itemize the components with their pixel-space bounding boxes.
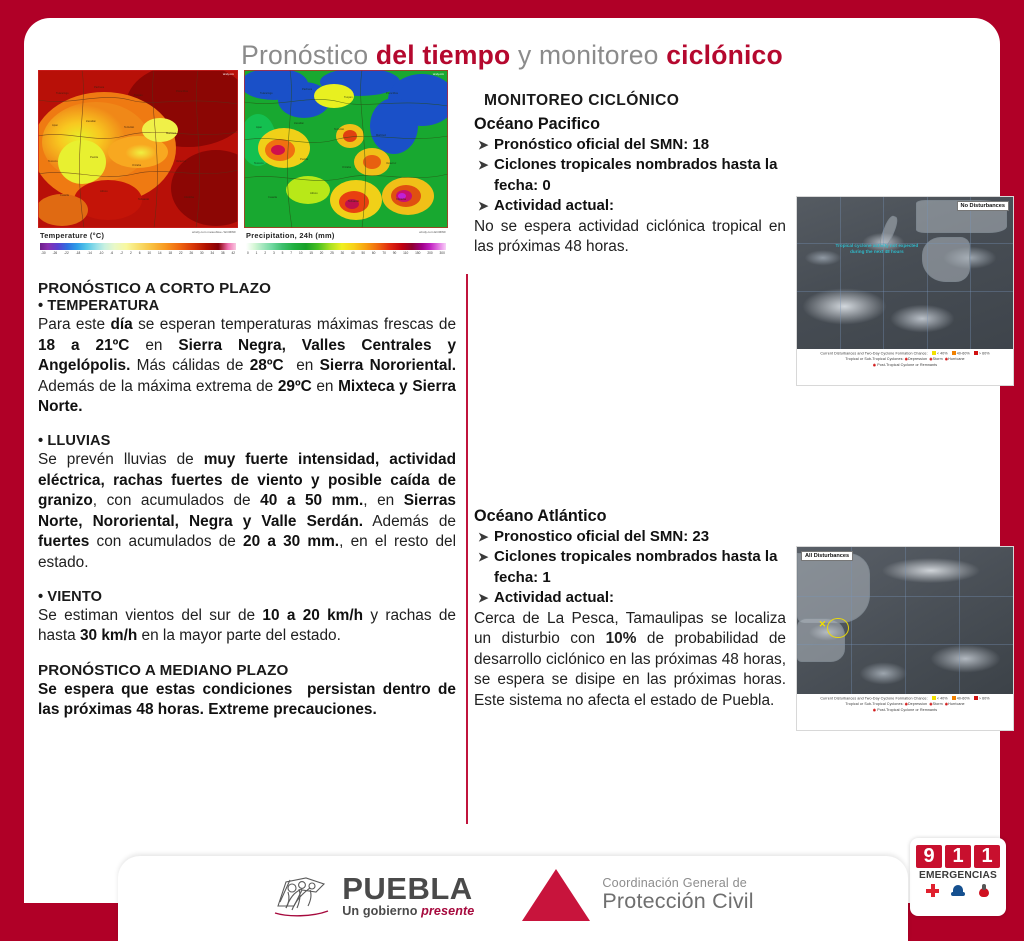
t-tick: 26 [189,251,193,255]
svg-text:Atlixco: Atlixco [310,191,318,195]
pacific-bullet-1: Pronóstico oficial del SMN: 18 [494,135,786,155]
grid-line [905,547,906,694]
svg-text:windy.com: windy.com [433,73,444,76]
precipitation-colorbar-gradient [246,243,446,250]
grid-line [883,197,884,349]
t-tick: -2 [120,251,123,255]
puebla-emblem-icon [272,872,334,918]
pacific-ocean-name: Océano Pacifico [474,115,786,134]
p-tick: 5 [282,251,284,255]
proteccion-civil-logo: Coordinación General de Protección Civil [522,869,753,921]
rain-text: Se prevén lluvias de muy fuerte intensid… [38,450,456,574]
grid-line [797,596,1013,597]
atlantic-bullet-1: Pronostico oficial del SMN: 23 [494,527,786,547]
p-tick: 2 [264,251,266,255]
white-card: Pronóstico del tiempo y monitoreo ciclón… [24,18,1000,903]
puebla-government-logo: PUEBLA Un gobierno presente [272,872,474,918]
legend-type-storm: Storm [933,357,943,361]
svg-text:Tulancingo: Tulancingo [56,91,69,95]
svg-text:Orizaba: Orizaba [342,165,352,169]
t-tick: 42 [231,251,235,255]
svg-text:Tehuacán: Tehuacán [138,197,150,201]
puebla-name: PUEBLA [342,873,474,904]
landmass-usa [797,553,870,624]
precipitation-map-panel: TulancingoPachuca TuxpanPoza Rica ApanZa… [244,70,448,262]
svg-text:Apan: Apan [256,125,263,129]
title-part-1: Pronóstico [241,40,376,70]
p-tick: 150 [415,251,420,255]
proteccion-civil-wordmark: Coordinación General de Protección Civil [602,877,753,914]
atlantic-satellite-image: All Disturbances ✕ [797,547,1013,694]
list-item: ➤ Ciclones tropicales nombrados hasta la… [474,547,786,588]
p-tick: 110 [403,251,408,255]
precipitation-colorbar-label: Precipitation, 24h (mm) [246,231,446,241]
atlantic-satellite-panel: All Disturbances ✕ Current Disturbances … [796,546,1014,731]
swatch-mid-chance-icon [952,696,956,700]
t-tick: 14 [158,251,162,255]
infographic-page: Pronóstico del tiempo y monitoreo ciclón… [0,0,1024,941]
svg-text:Cuautla: Cuautla [60,193,69,197]
swatch-low-chance-icon [932,696,936,700]
pc-line-1: Coordinación General de [602,877,753,891]
atlantic-activity-text: Cerca de La Pesca, Tamaulipas se localiz… [474,609,786,712]
atlantic-satellite-legend: Current Disturbances and Two-Day Cyclone… [797,694,1013,731]
short-term-forecast-column: PRONÓSTICO A CORTO PLAZO • TEMPERATURA P… [38,280,456,721]
emergency-911-badge: 9 1 1 EMERGENCIAS [910,838,1006,916]
legend-type-storm: Storm [933,702,943,706]
legend-cyclone-label: Tropical or Sub-Tropical Cyclones: [845,357,903,361]
pacific-status-tag: No Disturbances [957,201,1009,211]
digit-1-b: 1 [974,845,1000,868]
swatch-low-chance-icon [932,351,936,355]
legend-chance-label: Current Disturbances and Two-Day Cyclone… [820,352,927,356]
precipitation-map-canvas: TulancingoPachuca TuxpanPoza Rica ApanZa… [244,70,448,228]
title-part-2: y monitoreo [510,40,666,70]
grid-line [927,197,928,349]
post-tropical-symbol-icon: ◉ [873,363,876,367]
legend-chance-low: < 40% [937,697,948,701]
svg-text:Córdoba: Córdoba [396,197,407,201]
post-tropical-symbol-icon: ◉ [873,708,876,712]
cyclone-monitoring-column: MONITOREO CICLÓNICO Océano Pacifico ➤ Pr… [474,92,786,258]
arrow-bullet-icon: ➤ [474,588,494,608]
p-tick: 20 [320,251,324,255]
p-tick: 25 [330,251,334,255]
grid-line [797,644,1013,645]
puebla-wordmark: PUEBLA Un gobierno presente [342,873,474,918]
temperature-colorbar: Temperature (°C) windy.com meteoblue / E… [38,228,238,262]
monitoring-title: MONITOREO CICLÓNICO [474,92,786,110]
legend-post-tropical: Post-Tropical Cyclone or Remnants [877,708,937,712]
arrow-bullet-icon: ➤ [474,135,494,155]
svg-text:Martínez: Martínez [376,133,387,137]
title-bold-1: del tiempo [376,40,511,70]
arrow-bullet-icon: ➤ [474,196,494,216]
svg-text:Apan: Apan [52,123,59,127]
p-tick: 3 [273,251,275,255]
rain-heading: • LLUVIAS [38,433,456,449]
pacific-bullet-3: Actividad actual: [494,196,786,216]
p-tick: 15 [309,251,313,255]
triangle-icon [522,869,590,921]
grid-line [797,291,1013,292]
svg-text:Poza Rica: Poza Rica [386,91,398,95]
legend-chance-mid: 40-60% [957,352,970,356]
grid-line [851,547,852,694]
legend-line-3: ◉ Post-Tropical Cyclone or Remnants [800,708,1010,714]
legend-type-depression: Depression [908,702,927,706]
t-tick: 2 [130,251,132,255]
medium-term-text: Se espera que estas condiciones persista… [38,680,456,721]
precipitation-credit: windy.com ECMWF [419,230,446,234]
p-tick: 7 [290,251,292,255]
footer-bar: PUEBLA Un gobierno presente Coordinación… [118,856,908,941]
p-tick: 70 [382,251,386,255]
legend-type-hurricane: Hurricane [948,357,964,361]
p-tick: 200 [427,251,432,255]
svg-text:Poza Rica: Poza Rica [176,89,188,93]
legend-chance-label: Current Disturbances and Two-Day Cyclone… [820,697,927,701]
p-tick: 50 [361,251,365,255]
list-item: ➤ Pronostico oficial del SMN: 23 [474,527,786,547]
list-item: ➤ Pronóstico oficial del SMN: 18 [474,135,786,155]
atlantic-status-tag: All Disturbances [801,551,853,561]
page-title: Pronóstico del tiempo y monitoreo ciclón… [24,40,1000,71]
legend-type-depression: Depression [908,357,927,361]
tagline-plain: Un gobierno [342,904,421,918]
list-item: ➤ Ciclones tropicales nombrados hasta la… [474,155,786,196]
svg-text:Texcoco: Texcoco [48,159,58,163]
legend-line-3: ◉ Post-Tropical Cyclone or Remnants [800,363,1010,369]
legend-chance-low: < 40% [937,352,948,356]
title-bold-2: ciclónico [666,40,783,70]
svg-text:Tuxpan: Tuxpan [344,95,353,99]
svg-text:Tulancingo: Tulancingo [260,91,273,95]
digit-1-a: 1 [945,845,971,868]
t-tick: -30 [41,251,46,255]
legend-type-hurricane: Hurricane [948,702,964,706]
t-tick: -14 [87,251,92,255]
arrow-bullet-icon: ➤ [474,547,494,567]
temperature-heading: • TEMPERATURA [38,298,456,314]
temperature-colorbar-gradient [40,243,236,250]
p-tick: 1 [256,251,258,255]
legend-post-tropical: Post-Tropical Cyclone or Remnants [877,363,937,367]
puebla-tagline: Un gobierno presente [342,905,474,918]
footer-logos: PUEBLA Un gobierno presente Coordinación… [118,856,908,928]
svg-text:Teziutlán: Teziutlán [124,125,135,129]
svg-text:Tehuacán: Tehuacán [348,199,360,203]
precipitation-colorbar-ticks: 0 1 2 3 5 7 10 15 20 25 30 40 50 60 70 9… [246,251,446,255]
temperature-map-canvas: TulancingoPachuca TuxpanPoza Rica ApanZa… [38,70,238,228]
disturbance-marker-icon: ✕ [819,619,827,630]
svg-text:Teziutlán: Teziutlán [334,127,345,131]
landmass-mexico [922,237,970,283]
svg-text:Puebla: Puebla [300,157,309,161]
medium-term-heading: PRONÓSTICO A MEDIANO PLAZO [38,662,456,679]
svg-text:windy.com: windy.com [223,73,234,76]
firefighter-icon [978,884,990,897]
wind-text: Se estiman vientos del sur de 10 a 20 km… [38,606,456,647]
temperature-text: Para este día se esperan temperaturas má… [38,315,456,418]
t-tick: 10 [147,251,151,255]
temperature-map-image: TulancingoPachuca TuxpanPoza Rica ApanZa… [38,70,238,228]
pacific-satellite-panel: No Disturbances Tropical cyclone activit… [796,196,1014,386]
t-tick: -18 [76,251,81,255]
svg-text:Pachuca: Pachuca [302,87,313,91]
atlantic-bullet-2: Ciclones tropicales nombrados hasta la f… [494,547,786,588]
svg-text:Puebla: Puebla [90,155,99,159]
svg-text:Zacatlán: Zacatlán [86,119,97,123]
svg-text:Orizaba: Orizaba [132,163,142,167]
pacific-activity-text: No se espera actividad ciclónica tropica… [474,217,786,258]
wind-heading: • VIENTO [38,589,456,605]
p-tick: 10 [299,251,303,255]
svg-text:Veracruz: Veracruz [386,161,397,165]
svg-text:Pachuca: Pachuca [94,85,105,89]
t-tick: 18 [168,251,172,255]
temperature-credit: windy.com meteoblue / ECMWF [192,230,236,234]
911-digits: 9 1 1 [916,845,1000,868]
precipitation-colorbar: Precipitation, 24h (mm) windy.com ECMWF … [244,228,448,262]
list-item: ➤ Actividad actual: [474,588,786,608]
list-item: ➤ Actividad actual: [474,196,786,216]
temperature-colorbar-ticks: -30 -26 -22 -18 -14 -10 -6 -2 2 6 10 14 … [40,251,236,255]
atlantic-ocean-name: Océano Atlántico [474,507,786,526]
atlantic-bullet-3: Actividad actual: [494,588,786,608]
swatch-high-chance-icon [974,696,978,700]
grid-line [970,197,971,349]
precipitation-map-image: TulancingoPachuca TuxpanPoza Rica ApanZa… [244,70,448,228]
t-tick: 38 [221,251,225,255]
p-tick: 60 [372,251,376,255]
p-tick: 300 [440,251,445,255]
svg-text:Martínez: Martínez [166,131,177,135]
pacific-overlay-note: Tropical cyclone activity not expected d… [827,243,926,255]
tagline-accent: presente [421,904,474,918]
svg-text:Texcoco: Texcoco [254,161,264,165]
t-tick: 34 [210,251,214,255]
column-divider [466,274,468,824]
p-tick: 0 [247,251,249,255]
t-tick: -26 [53,251,58,255]
emergencias-label: EMERGENCIAS [916,870,1000,881]
p-tick: 30 [341,251,345,255]
t-tick: -10 [99,251,104,255]
legend-chance-high: > 60% [979,697,990,701]
pacific-satellite-legend: Current Disturbances and Two-Day Cyclone… [797,349,1013,386]
temperature-map-panel: TulancingoPachuca TuxpanPoza Rica ApanZa… [38,70,238,262]
pacific-satellite-image: No Disturbances Tropical cyclone activit… [797,197,1013,349]
grid-line [840,197,841,349]
t-tick: 22 [179,251,183,255]
svg-text:Tuxpan: Tuxpan [134,93,143,97]
svg-text:Veracruz: Veracruz [176,159,187,163]
svg-text:Zacatlán: Zacatlán [294,121,305,125]
t-tick: 30 [200,251,204,255]
legend-cyclone-label: Tropical or Sub-Tropical Cyclones: [845,702,903,706]
pc-line-2: Protección Civil [602,890,753,913]
swatch-high-chance-icon [974,351,978,355]
arrow-bullet-icon: ➤ [474,527,494,547]
svg-text:Atlixco: Atlixco [100,189,108,193]
p-tick: 90 [393,251,397,255]
grid-line [959,547,960,694]
police-hat-icon [951,885,965,897]
svg-text:Córdoba: Córdoba [184,195,195,199]
svg-text:Cuautla: Cuautla [268,195,277,199]
disturbance-hatch-icon [827,618,849,639]
digit-9: 9 [916,845,942,868]
atlantic-monitoring-block: Océano Atlántico ➤ Pronostico oficial de… [474,507,786,712]
t-tick: 6 [139,251,141,255]
pacific-bullet-2: Ciclones tropicales nombrados hasta la f… [494,155,786,196]
p-tick: 40 [351,251,355,255]
swatch-mid-chance-icon [952,351,956,355]
arrow-bullet-icon: ➤ [474,155,494,175]
legend-chance-high: > 60% [979,352,990,356]
legend-chance-mid: 40-60% [957,697,970,701]
short-term-heading: PRONÓSTICO A CORTO PLAZO [38,280,456,297]
emergency-service-icons [916,884,1000,897]
medical-cross-icon [926,884,939,897]
t-tick: -6 [110,251,113,255]
t-tick: -22 [64,251,69,255]
